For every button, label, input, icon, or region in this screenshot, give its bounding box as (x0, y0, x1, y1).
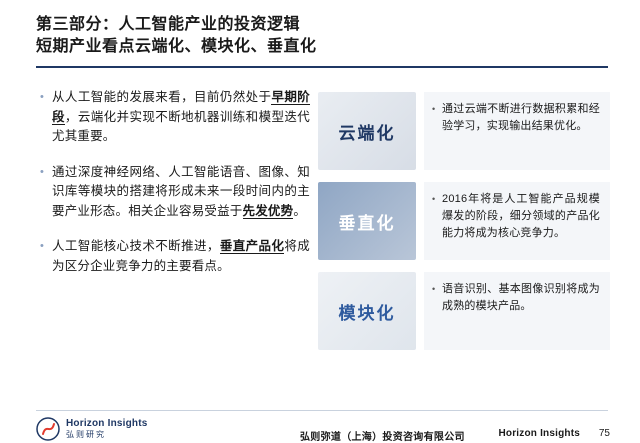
page-title: 第三部分：人工智能产业的投资逻辑 短期产业看点云端化、模块化、垂直化 (36, 14, 606, 58)
bullet-dot-icon: • (432, 281, 442, 298)
description-text: 2016年将是人工智能产品规模爆发的阶段，细分领域的产品化能力将成为核心竞争力。 (442, 191, 600, 242)
title-line-2: 短期产业看点云端化、模块化、垂直化 (36, 36, 606, 58)
list-item: • 通过深度神经网络、人工智能语音、图像、知识库等模块的搭建将形成未来一段时间内… (40, 163, 310, 222)
bullet-dot-icon: • (432, 191, 442, 208)
description-box-modular: • 语音识别、基本图像识别将成为成熟的模块产品。 (424, 272, 610, 350)
description-box-cloud: • 通过云端不断进行数据积累和经验学习，实现输出结果优化。 (424, 92, 610, 170)
bullet-text: 通过深度神经网络、人工智能语音、图像、知识库等模块的搭建将形成未来一段时间内的主… (52, 163, 310, 222)
description-box-vertical: • 2016年将是人工智能产品规模爆发的阶段，细分领域的产品化能力将成为核心竞争… (424, 182, 610, 260)
bullet-dot-icon: • (40, 237, 52, 256)
bullet-segment: ，云端化并实现不断地机器训练和模型迭代尤其重要。 (52, 110, 310, 144)
page-number: 75 (599, 428, 610, 439)
bullet-segment-emphasis: 垂直产品化 (220, 239, 285, 254)
bullet-text: 从人工智能的发展来看，目前仍然处于早期阶段，云端化并实现不断地机器训练和模型迭代… (52, 88, 310, 147)
bullet-dot-icon: • (40, 163, 52, 182)
stage-block-cloud: 云端化 (318, 92, 416, 170)
title-line-1: 第三部分：人工智能产业的投资逻辑 (36, 14, 606, 36)
brand-logo: Horizon Insights 弘则研究 (36, 417, 148, 441)
stage-block-column: 云端化 垂直化 模块化 (318, 92, 416, 362)
bullet-dot-icon: • (432, 101, 442, 118)
footer-company-name: 弘则弥道（上海）投资咨询有限公司 (300, 428, 465, 443)
list-item: • 从人工智能的发展来看，目前仍然处于早期阶段，云端化并实现不断地机器训练和模型… (40, 88, 310, 147)
description-text: 语音识别、基本图像识别将成为成熟的模块产品。 (442, 281, 600, 315)
bullet-segment: 。 (293, 204, 306, 218)
stage-label: 模块化 (339, 299, 396, 324)
description-text: 通过云端不断进行数据积累和经验学习，实现输出结果优化。 (442, 101, 600, 135)
bullet-segment: 人工智能核心技术不断推进， (52, 239, 220, 253)
left-bullet-list: • 从人工智能的发展来看，目前仍然处于早期阶段，云端化并实现不断地机器训练和模型… (40, 88, 310, 292)
brand-name-cn: 弘则研究 (66, 429, 148, 440)
title-divider (36, 66, 608, 68)
slide-root: 第三部分：人工智能产业的投资逻辑 短期产业看点云端化、模块化、垂直化 • 从人工… (0, 0, 640, 443)
horizon-logo-icon (36, 417, 60, 441)
bullet-segment-emphasis: 先发优势 (243, 204, 294, 219)
description-column: • 通过云端不断进行数据积累和经验学习，实现输出结果优化。 • 2016年将是人… (424, 92, 610, 362)
footer-brand-name: Horizon Insights (498, 428, 580, 439)
brand-logo-text: Horizon Insights 弘则研究 (66, 418, 148, 440)
stage-label: 垂直化 (339, 209, 396, 234)
brand-name-en: Horizon Insights (66, 418, 148, 429)
footer-divider (36, 410, 608, 411)
bullet-segment: 从人工智能的发展来看，目前仍然处于 (52, 90, 271, 104)
bullet-dot-icon: • (40, 88, 52, 107)
stage-label: 云端化 (339, 119, 396, 144)
stage-block-modular: 模块化 (318, 272, 416, 350)
bullet-text: 人工智能核心技术不断推进，垂直产品化将成为区分企业竞争力的主要看点。 (52, 237, 310, 276)
list-item: • 人工智能核心技术不断推进，垂直产品化将成为区分企业竞争力的主要看点。 (40, 237, 310, 276)
stage-block-vertical: 垂直化 (318, 182, 416, 260)
